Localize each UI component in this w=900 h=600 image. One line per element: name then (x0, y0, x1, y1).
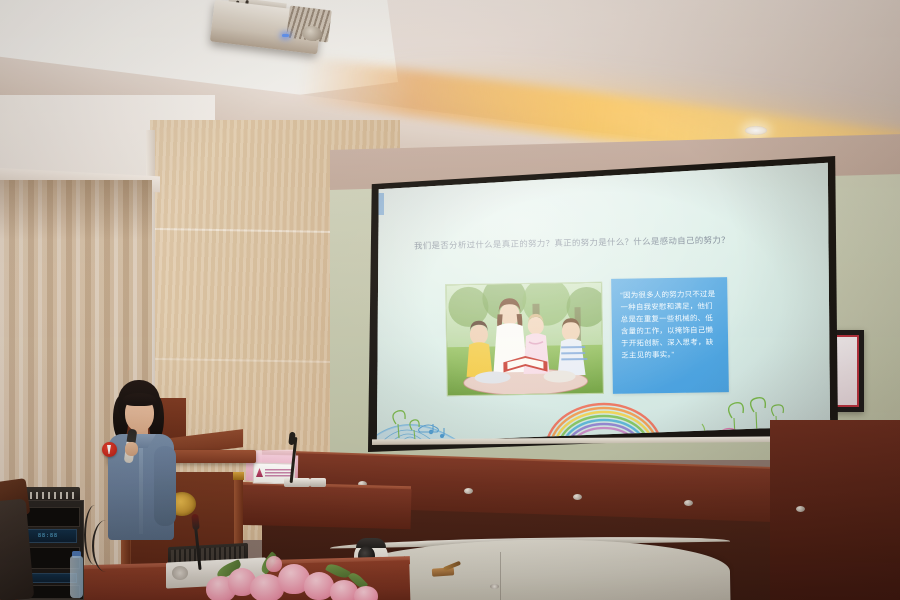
rack-display-panel: 88:88 (27, 529, 77, 543)
hand (125, 442, 138, 456)
rack-display-value: 88:88 (38, 533, 58, 539)
arm-right (154, 446, 176, 526)
projector-status-led-icon (282, 34, 289, 37)
table-seam (500, 552, 501, 600)
wall-knob-icon (464, 488, 473, 494)
desk-mic-base (284, 478, 310, 487)
downlight-icon (745, 126, 767, 135)
mixer-faders-icon[interactable] (24, 492, 76, 499)
jacket-placket (139, 442, 143, 534)
slide-accent-tab (378, 193, 384, 215)
flower-petal (354, 586, 378, 600)
rack-cable (92, 520, 120, 572)
curtain-shadow (0, 180, 152, 240)
wall-knob-icon (796, 506, 805, 512)
wall-knob-icon (684, 500, 693, 506)
podium-column-cap-right (233, 472, 244, 480)
side-desk (236, 485, 412, 530)
water-bottle (70, 556, 83, 598)
speaker-grille-icon (172, 566, 188, 580)
wall-dark-right (770, 420, 900, 600)
slide-quote-text: “因为很多人的努力只不过是一种自我安慰和满足，他们总是在重复一些机械的、低含量的… (611, 277, 728, 373)
hair-bangs (123, 393, 156, 406)
flower-bud (266, 556, 282, 572)
projection-screen: 我们是否分析过什么是真正的努力？真正的努力是什么？什么是感动自己的努力？ (376, 161, 831, 444)
camera-top-cover (356, 538, 386, 548)
placard-text-lines (265, 469, 291, 477)
wall-knob-icon (573, 494, 582, 500)
conference-room-scene: 我们是否分析过什么是真正的努力？真正的努力是什么？什么是感动自己的努力？ (0, 0, 900, 600)
slide-title: 我们是否分析过什么是真正的努力？真正的努力是什么？什么是感动自己的努力？ (414, 233, 804, 251)
sleeve-badge-icon (102, 442, 117, 457)
presentation-slide: 我们是否分析过什么是真正的努力？真正的努力是什么？什么是感动自己的努力？ (376, 161, 831, 444)
flower-arrangement (206, 552, 381, 600)
desk-mic-control-unit[interactable] (310, 478, 326, 487)
rack-slot (24, 507, 80, 527)
table-grommet-icon (490, 584, 499, 589)
